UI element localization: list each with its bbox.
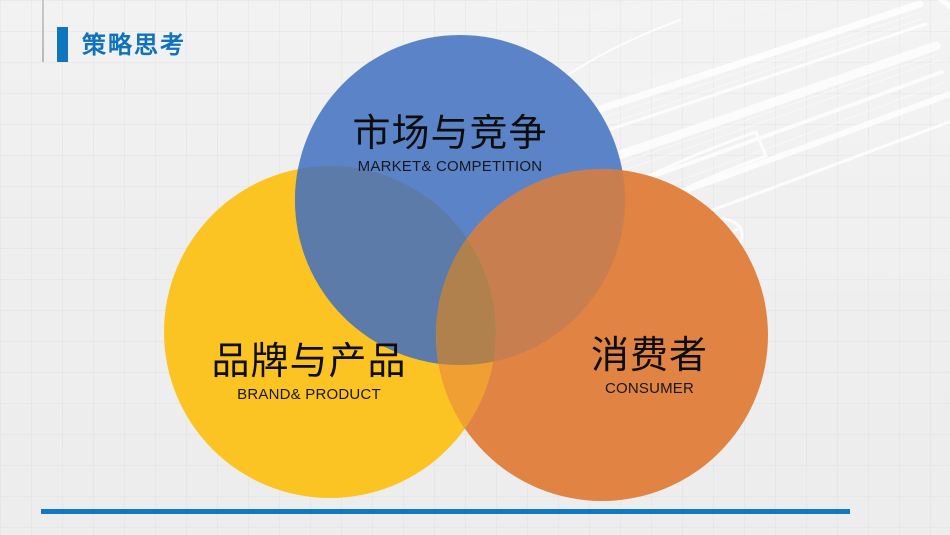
slide-canvas: 策略思考 市场与竞争 MARK (0, 0, 950, 535)
venn-diagram (0, 0, 950, 535)
footer-rule (41, 509, 850, 514)
